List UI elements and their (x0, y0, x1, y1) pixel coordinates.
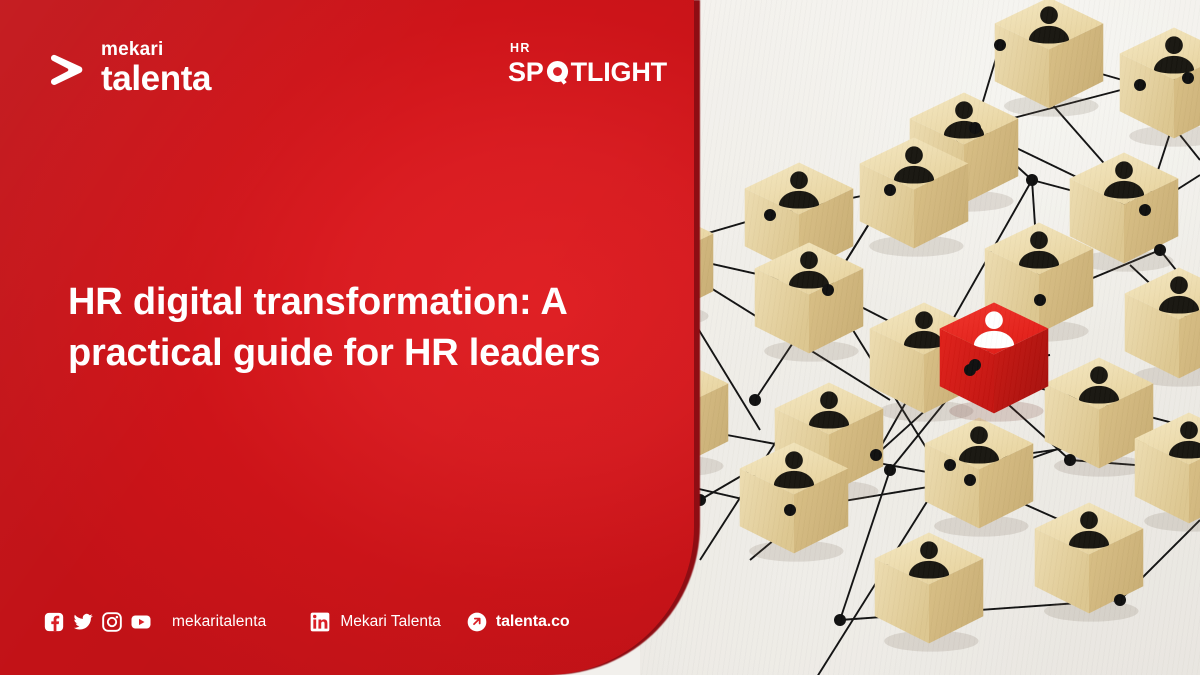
arrow-up-right-circle-icon[interactable] (467, 612, 487, 632)
linkedin-label: Mekari Talenta (340, 613, 441, 631)
hr-spotlight-banner: mekari talenta HR SP TLIGHT HR digital t… (0, 0, 1200, 675)
spotlight-wordmark: SP TLIGHT (508, 59, 667, 86)
website-label: talenta.co (496, 613, 570, 631)
facebook-icon[interactable] (44, 612, 64, 632)
social-handle-text: mekaritalenta (172, 613, 266, 631)
youtube-icon[interactable] (131, 612, 151, 632)
brand-mekari-text: mekari (101, 40, 211, 59)
page-title: HR digital transformation: A practical g… (68, 277, 628, 377)
brand-wordmark: mekari talenta (101, 40, 211, 96)
footer-social-bar: mekaritalenta Mekari Talenta talenta.co (44, 612, 570, 632)
spotlight-text-tlight: TLIGHT (571, 59, 667, 86)
network-graphic (640, 0, 1200, 675)
website-group[interactable]: talenta.co (467, 612, 570, 632)
instagram-icon[interactable] (102, 612, 122, 632)
spotlight-hr-text: HR (510, 42, 667, 55)
linkedin-icon[interactable] (310, 612, 330, 632)
brand-talenta-text: talenta (101, 61, 211, 96)
network-blocks-photo (640, 0, 1200, 675)
hr-spotlight-logo: HR SP TLIGHT (508, 42, 667, 86)
spotlight-o-icon (545, 60, 570, 85)
social-icons-group: mekaritalenta (44, 612, 266, 632)
mekari-chevron-icon (45, 49, 87, 91)
linkedin-group[interactable]: Mekari Talenta (310, 612, 441, 632)
twitter-icon[interactable] (73, 612, 93, 632)
spotlight-text-sp: SP (508, 59, 544, 86)
mekari-talenta-logo[interactable]: mekari talenta (45, 40, 211, 96)
